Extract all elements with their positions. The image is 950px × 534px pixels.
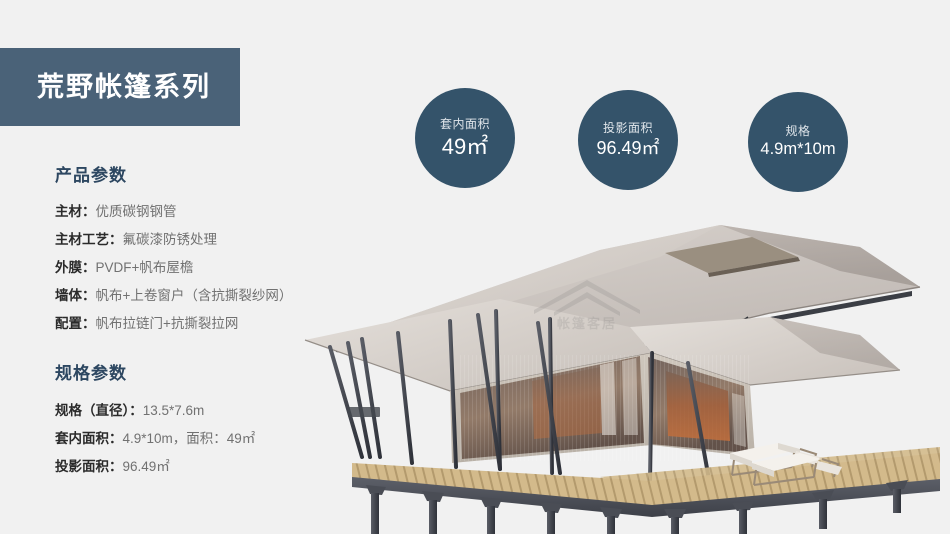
section-heading-product: 产品参数 [55,166,355,186]
stilt-post [366,485,386,534]
slide-canvas: 荒野帐篷系列 产品参数 主材：优质碳钢钢管 主材工艺：氟碳漆防锈处理 外膜：PV… [0,0,950,534]
stilt-post [664,509,686,534]
tent-villa-render-image [300,195,950,534]
spec-label: 外膜： [55,260,96,275]
stilt-post [422,491,444,534]
badge-interior-area: 套内面积 49㎡ [415,88,515,188]
spec-value: 帆布拉链门+抗撕裂拉网 [96,316,239,331]
spec-label: 墙体： [55,288,96,303]
spec-value: 13.5*7.6m [143,403,205,418]
page-title: 荒野帐篷系列 [37,74,211,101]
badge-caption: 规格 [785,125,810,138]
stilt-post [540,502,562,534]
stilt-post [732,501,754,534]
spec-value: 氟碳漆防锈处理 [123,232,218,247]
spec-label: 主材工艺： [55,232,123,247]
spec-value: PVDF+帆布屋檐 [96,260,194,275]
badge-specification: 规格 4.9m*10m [748,92,848,192]
spec-label: 主材： [55,204,96,219]
spec-value: 4.9*10m，面积：49㎡ [123,431,256,446]
badge-value: 49㎡ [442,135,488,158]
spec-label: 投影面积： [55,459,123,474]
stilt-post [480,497,502,534]
stilt-post [600,507,622,534]
stilt-post [812,490,834,529]
spec-label: 配置： [55,316,96,331]
spec-value: 优质碳钢钢管 [96,204,177,219]
badge-projected-area: 投影面积 96.49㎡ [578,90,678,190]
wall-vent-panel [348,407,380,417]
spec-value: 96.49㎡ [123,459,170,474]
spec-label: 套内面积： [55,431,123,446]
spec-value: 帆布+上卷窗户（含抗撕裂纱网） [96,288,293,303]
badge-caption: 套内面积 [440,118,490,131]
badge-value: 96.49㎡ [596,139,659,158]
title-banner: 荒野帐篷系列 [0,48,240,126]
stilt-post [886,480,908,513]
spec-label: 规格（直径）： [55,403,143,418]
badge-caption: 投影面积 [603,122,653,135]
badge-value: 4.9m*10m [760,141,835,158]
